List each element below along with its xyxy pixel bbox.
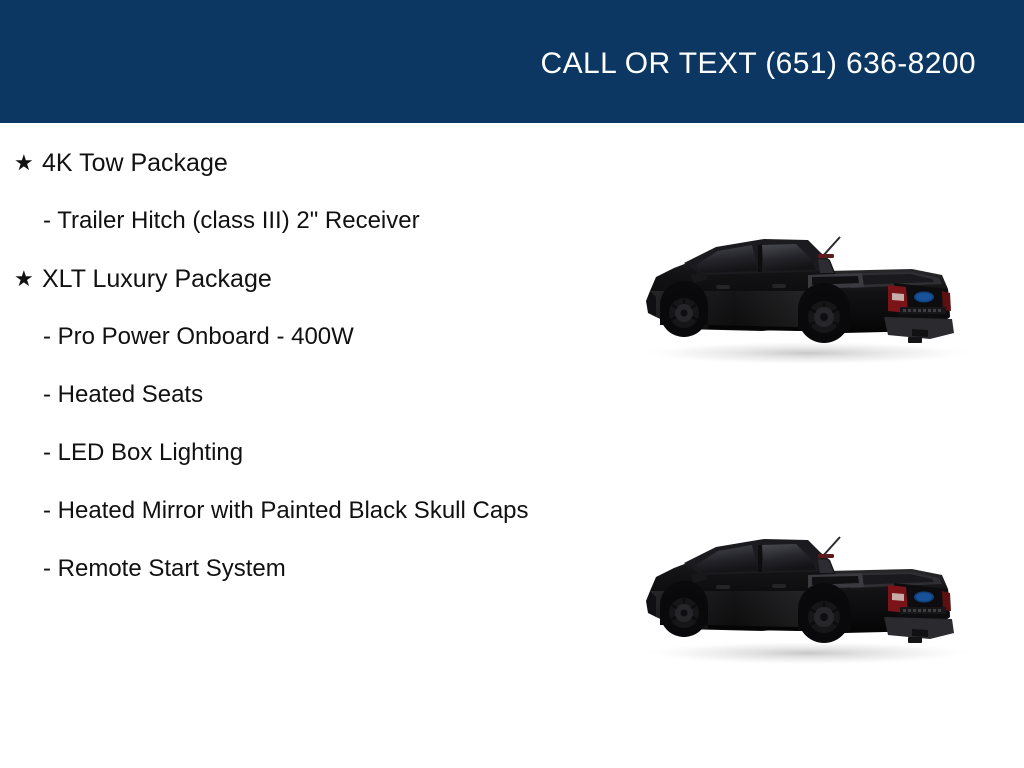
- list-item: - Trailer Hitch (class III) 2" Receiver: [0, 205, 600, 237]
- call-or-text-phone-number[interactable]: CALL OR TEXT (651) 636-8200: [541, 47, 976, 81]
- list-item: - LED Box Lighting: [0, 437, 600, 469]
- main-content: ★4K Tow Package - Trailer Hitch (class I…: [0, 123, 1024, 768]
- vehicle-image-bottom[interactable]: [612, 513, 1004, 668]
- package-detail: - Remote Start System: [43, 553, 555, 585]
- header-banner: CALL OR TEXT (651) 636-8200: [0, 0, 1024, 123]
- ford-maverick-illustration: [612, 513, 1004, 668]
- list-item: - Heated Seats: [0, 379, 600, 411]
- package-detail: - Trailer Hitch (class III) 2" Receiver: [43, 205, 555, 237]
- package-detail: - Heated Seats: [43, 379, 555, 411]
- list-item: - Pro Power Onboard - 400W: [0, 321, 600, 353]
- list-item: ★XLT Luxury Package: [0, 263, 600, 295]
- list-item: ★4K Tow Package: [0, 147, 600, 179]
- ford-maverick-illustration: [612, 213, 1004, 368]
- package-detail: - Heated Mirror with Painted Black Skull…: [43, 495, 555, 527]
- package-title: XLT Luxury Package: [42, 263, 272, 295]
- star-icon: ★: [14, 147, 42, 179]
- list-item: - Remote Start System: [0, 553, 600, 585]
- star-icon: ★: [14, 263, 42, 295]
- vehicle-features-list: ★4K Tow Package - Trailer Hitch (class I…: [0, 123, 600, 611]
- vehicle-image-top[interactable]: [612, 213, 1004, 368]
- package-detail: - Pro Power Onboard - 400W: [43, 321, 555, 353]
- list-item: - Heated Mirror with Painted Black Skull…: [0, 495, 600, 527]
- package-detail: - LED Box Lighting: [43, 437, 555, 469]
- package-title: 4K Tow Package: [42, 147, 228, 179]
